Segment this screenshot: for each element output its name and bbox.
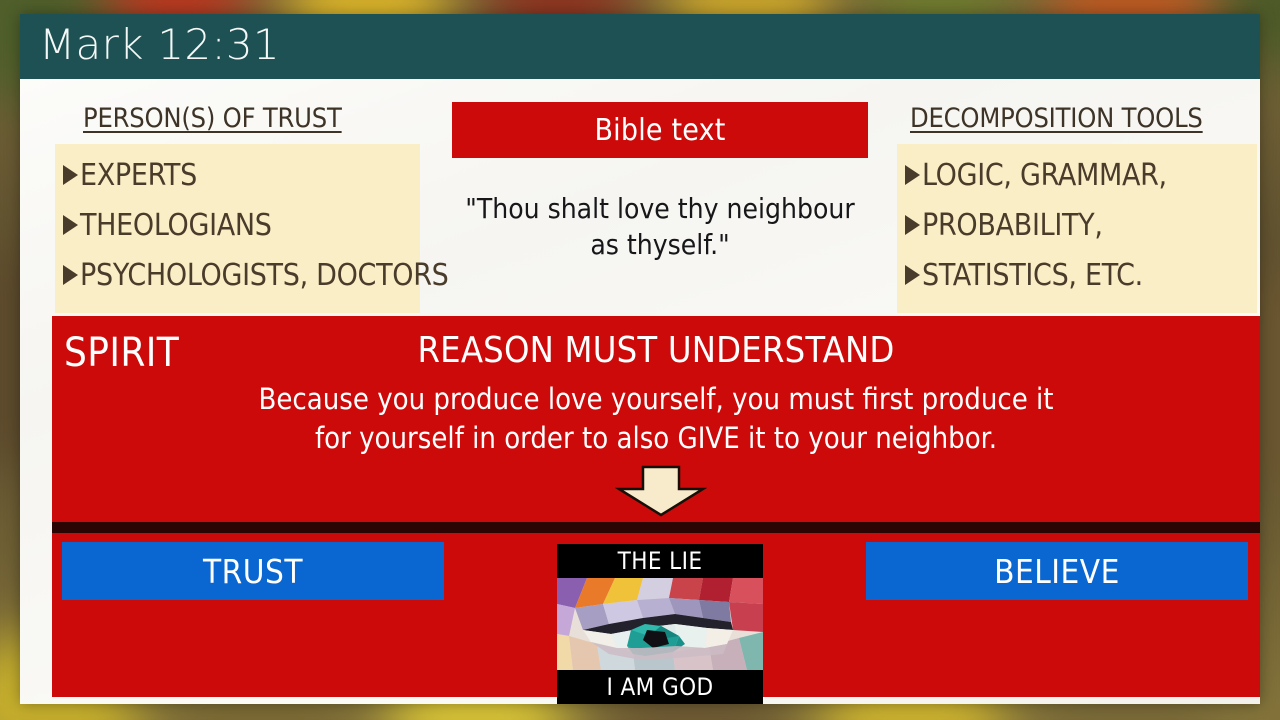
triangle-bullet-icon bbox=[905, 265, 920, 285]
list-item-label: EXPERTS bbox=[80, 158, 197, 193]
slide-root: Mark 12:31 PERSON(S) OF TRUST EXPERTS TH… bbox=[0, 0, 1280, 720]
list-item-label: THEOLOGIANS bbox=[80, 208, 272, 243]
the-lie-caption-bottom: I AM GOD bbox=[557, 670, 763, 704]
believe-button[interactable]: BELIEVE bbox=[866, 542, 1248, 600]
reason-heading: REASON MUST UNDERSTAND bbox=[52, 330, 1260, 371]
page-title: Mark 12:31 bbox=[39, 20, 280, 69]
slide-canvas: Mark 12:31 PERSON(S) OF TRUST EXPERTS TH… bbox=[20, 14, 1260, 704]
triangle-bullet-icon bbox=[63, 265, 78, 285]
list-item: LOGIC, GRAMMAR, bbox=[897, 150, 1257, 200]
decomposition-tools-box: LOGIC, GRAMMAR, PROBABILITY, STATISTICS,… bbox=[897, 144, 1257, 313]
triangle-bullet-icon bbox=[905, 165, 920, 185]
trust-believe-panel: TRUST BELIEVE THE LIE bbox=[52, 533, 1260, 697]
trust-button-label: TRUST bbox=[203, 552, 303, 591]
list-item: STATISTICS, ETC. bbox=[897, 250, 1257, 300]
eye-image bbox=[557, 578, 763, 670]
reason-body: Because you produce love yourself, you m… bbox=[52, 380, 1260, 457]
list-item: THEOLOGIANS bbox=[55, 200, 420, 250]
panel-divider bbox=[52, 522, 1260, 533]
bible-quote: "Thou shalt love thy neighbour as thysel… bbox=[450, 191, 870, 263]
list-item: EXPERTS bbox=[55, 150, 420, 200]
list-item-label: STATISTICS, ETC. bbox=[922, 258, 1143, 293]
title-bar: Mark 12:31 bbox=[20, 14, 1260, 79]
trust-button[interactable]: TRUST bbox=[62, 542, 444, 600]
triangle-bullet-icon bbox=[63, 215, 78, 235]
triangle-bullet-icon bbox=[905, 215, 920, 235]
persons-of-trust-box: EXPERTS THEOLOGIANS PSYCHOLOGISTS, DOCTO… bbox=[55, 144, 420, 313]
bible-quote-line-2: as thyself." bbox=[450, 227, 870, 263]
persons-of-trust-heading: PERSON(S) OF TRUST bbox=[83, 103, 342, 134]
reason-body-line-1: Because you produce love yourself, you m… bbox=[52, 380, 1260, 419]
list-item-label: PSYCHOLOGISTS, DOCTORS bbox=[80, 258, 449, 293]
believe-button-label: BELIEVE bbox=[994, 552, 1120, 591]
reason-body-line-2: for yourself in order to also GIVE it to… bbox=[52, 419, 1260, 458]
decomposition-tools-heading: DECOMPOSITION TOOLS bbox=[910, 103, 1203, 134]
list-item: PROBABILITY, bbox=[897, 200, 1257, 250]
bible-text-banner: Bible text bbox=[452, 102, 868, 158]
list-item: PSYCHOLOGISTS, DOCTORS bbox=[55, 250, 420, 300]
bible-text-banner-label: Bible text bbox=[594, 113, 725, 148]
list-item-label: PROBABILITY, bbox=[922, 208, 1103, 243]
bible-quote-line-1: "Thou shalt love thy neighbour bbox=[450, 191, 870, 227]
triangle-bullet-icon bbox=[63, 165, 78, 185]
list-item-label: LOGIC, GRAMMAR, bbox=[922, 158, 1167, 193]
the-lie-card: THE LIE bbox=[557, 544, 763, 704]
down-arrow-icon bbox=[615, 465, 707, 517]
the-lie-caption-top: THE LIE bbox=[557, 544, 763, 578]
